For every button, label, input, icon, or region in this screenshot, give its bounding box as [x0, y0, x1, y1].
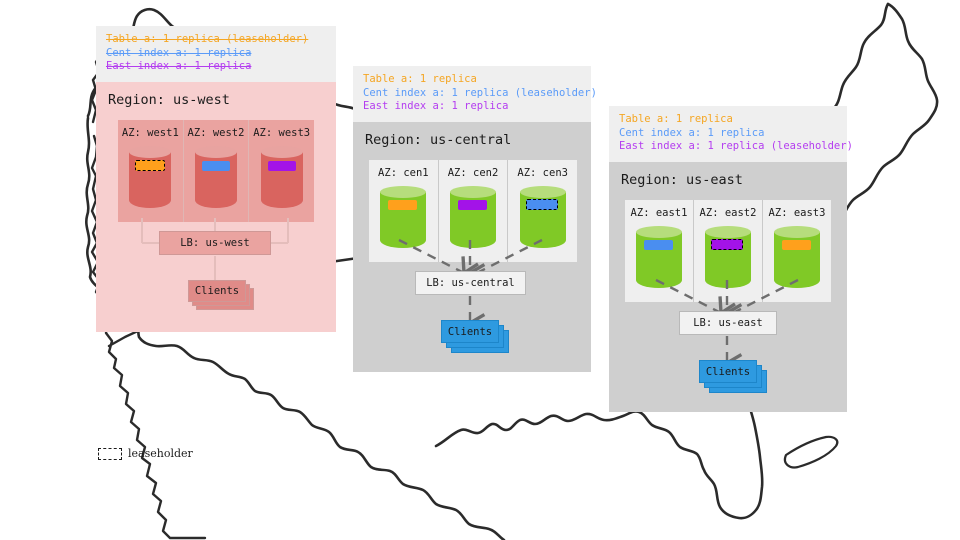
replica-summary-us-west: Table a: 1 replica (leaseholder) Cent in…	[96, 26, 336, 82]
replica-line-table: Table a: 1 replica (leaseholder)	[106, 33, 326, 47]
replica-line-east-index: East index a: 1 replica	[363, 100, 581, 114]
load-balancer-us-central[interactable]: LB: us-central	[415, 271, 526, 295]
legend: leaseholder	[98, 447, 193, 460]
replica-line-cent-index: Cent index a: 1 replica	[106, 47, 326, 61]
replica-line-table: Table a: 1 replica	[363, 73, 581, 87]
replica-summary-us-central: Table a: 1 replica Cent index a: 1 repli…	[353, 66, 591, 122]
clients-us-east[interactable]: Clients	[699, 360, 757, 383]
replica-line-east-index: East index a: 1 replica	[106, 60, 326, 74]
clients-us-central[interactable]: Clients	[441, 320, 499, 343]
diagram-canvas: Table a: 1 replica (leaseholder) Cent in…	[0, 0, 960, 540]
replica-line-cent-index: Cent index a: 1 replica	[619, 127, 837, 141]
dashed-rect-icon	[98, 448, 122, 460]
legend-label: leaseholder	[128, 447, 193, 460]
replica-line-cent-index: Cent index a: 1 replica (leaseholder)	[363, 87, 581, 101]
replica-line-table: Table a: 1 replica	[619, 113, 837, 127]
load-balancer-us-west[interactable]: LB: us-west	[159, 231, 271, 255]
clients-us-west[interactable]: Clients	[188, 280, 246, 302]
replica-line-east-index: East index a: 1 replica (leaseholder)	[619, 140, 837, 154]
load-balancer-us-east[interactable]: LB: us-east	[679, 311, 777, 335]
replica-summary-us-east: Table a: 1 replica Cent index a: 1 repli…	[609, 106, 847, 162]
